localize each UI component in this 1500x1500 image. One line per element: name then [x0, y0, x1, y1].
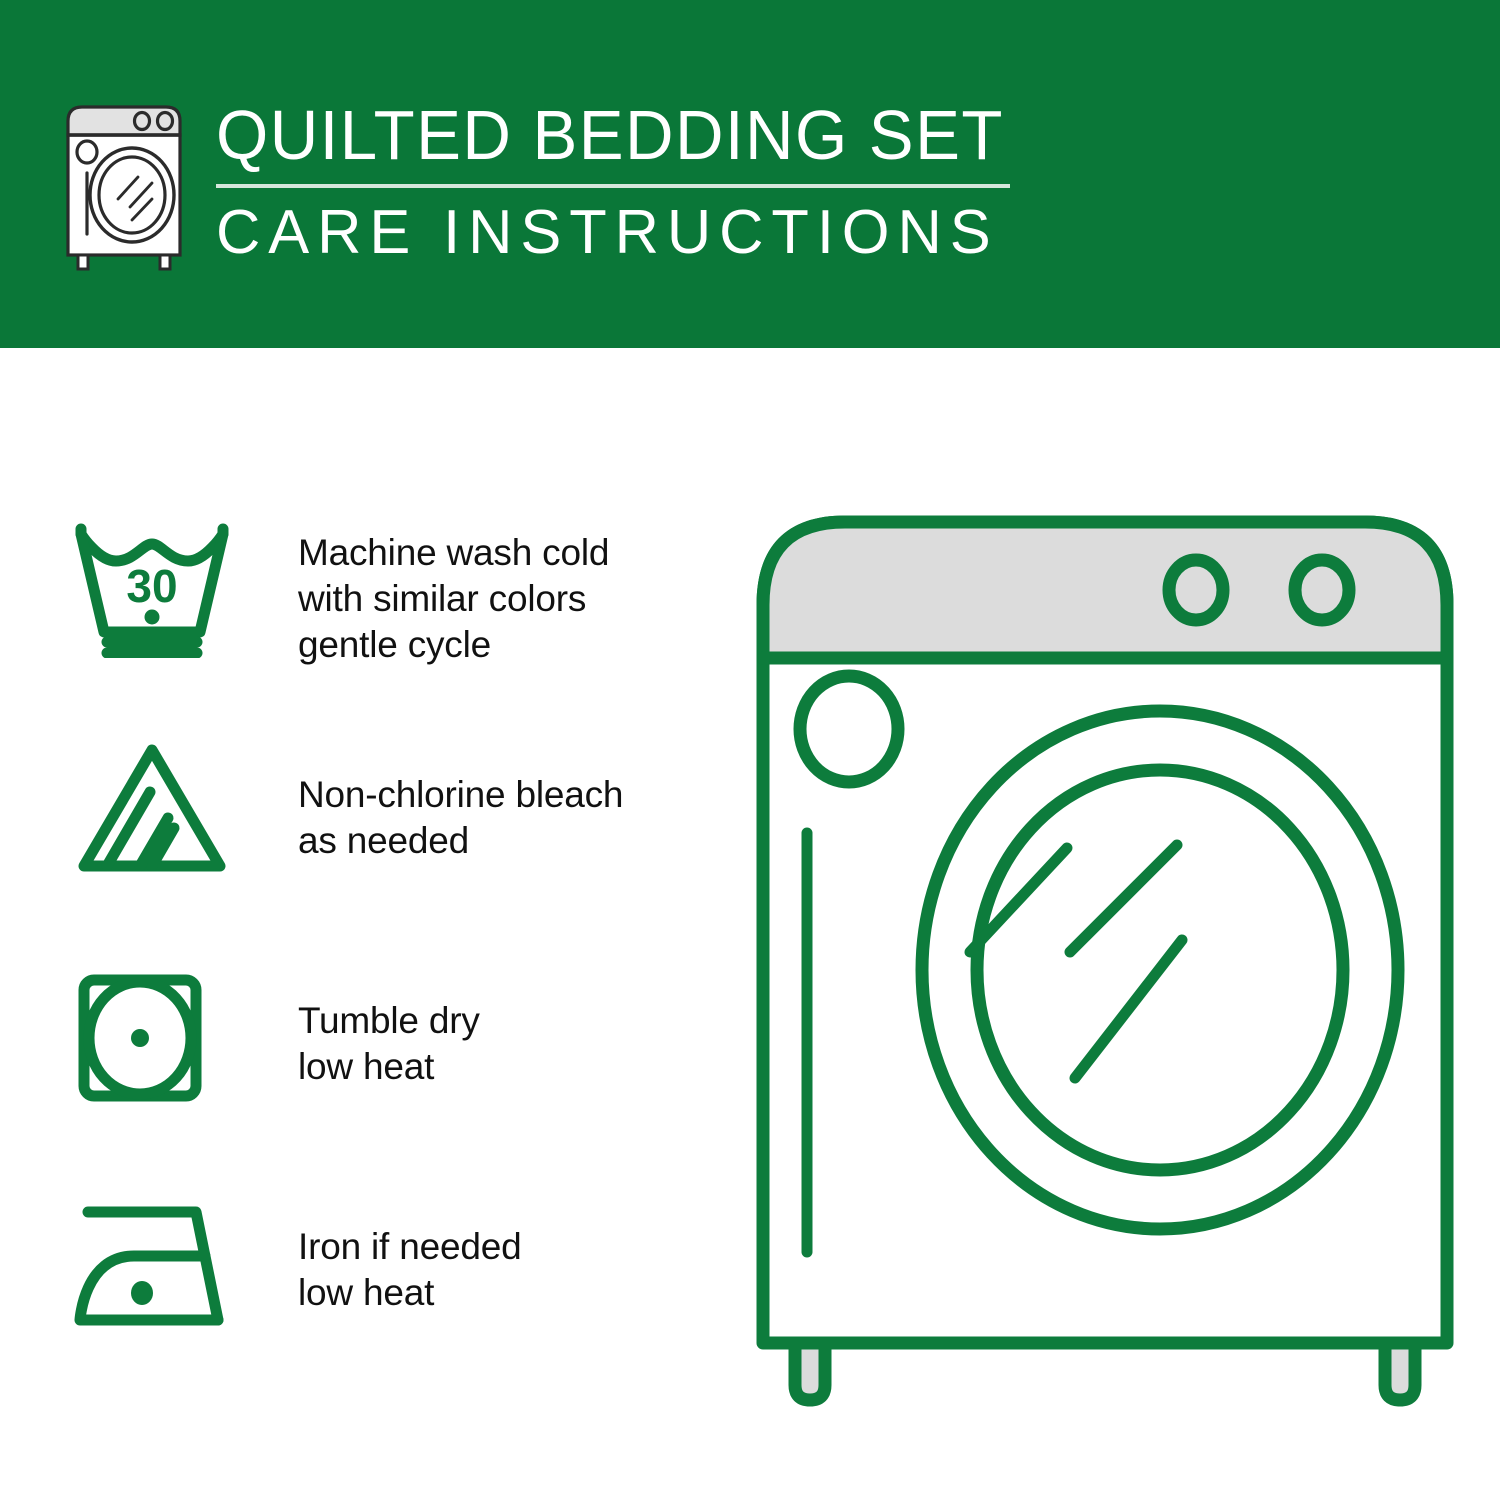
- care-item-label: Iron if needed low heat: [298, 1198, 521, 1316]
- care-item-label: Non-chlorine bleach as needed: [298, 740, 623, 864]
- tumble-dry-low-symbol: [72, 968, 232, 1106]
- washing-machine-illustration: [745, 500, 1475, 1430]
- care-instructions-page: QUILTED BEDDING SET CARE INSTRUCTIONS: [0, 0, 1500, 1500]
- care-item-label: Machine wash cold with similar colors ge…: [298, 520, 609, 668]
- page-subtitle: CARE INSTRUCTIONS: [216, 196, 1008, 270]
- non-chlorine-bleach-symbol: [72, 740, 232, 878]
- washing-machine-icon: [62, 103, 207, 271]
- care-item-label: Tumble dry low heat: [298, 968, 480, 1090]
- page-title: QUILTED BEDDING SET: [216, 96, 984, 174]
- wash-temperature-value: 30: [126, 560, 177, 612]
- machine-wash-30-gentle-symbol: 30: [72, 520, 232, 658]
- title-divider: [216, 184, 1010, 188]
- care-item-iron: Iron if needed low heat: [72, 1198, 712, 1336]
- care-item-tumble-dry: Tumble dry low heat: [72, 968, 712, 1106]
- care-item-machine-wash: 30 Machine wash cold with similar colors…: [72, 520, 712, 668]
- header-title-block: QUILTED BEDDING SET CARE INSTRUCTIONS: [216, 96, 1016, 270]
- care-instruction-list: 30 Machine wash cold with similar colors…: [0, 348, 740, 1500]
- page-header: QUILTED BEDDING SET CARE INSTRUCTIONS: [0, 0, 1500, 348]
- iron-low-symbol: [72, 1198, 232, 1336]
- care-item-bleach: Non-chlorine bleach as needed: [72, 740, 712, 878]
